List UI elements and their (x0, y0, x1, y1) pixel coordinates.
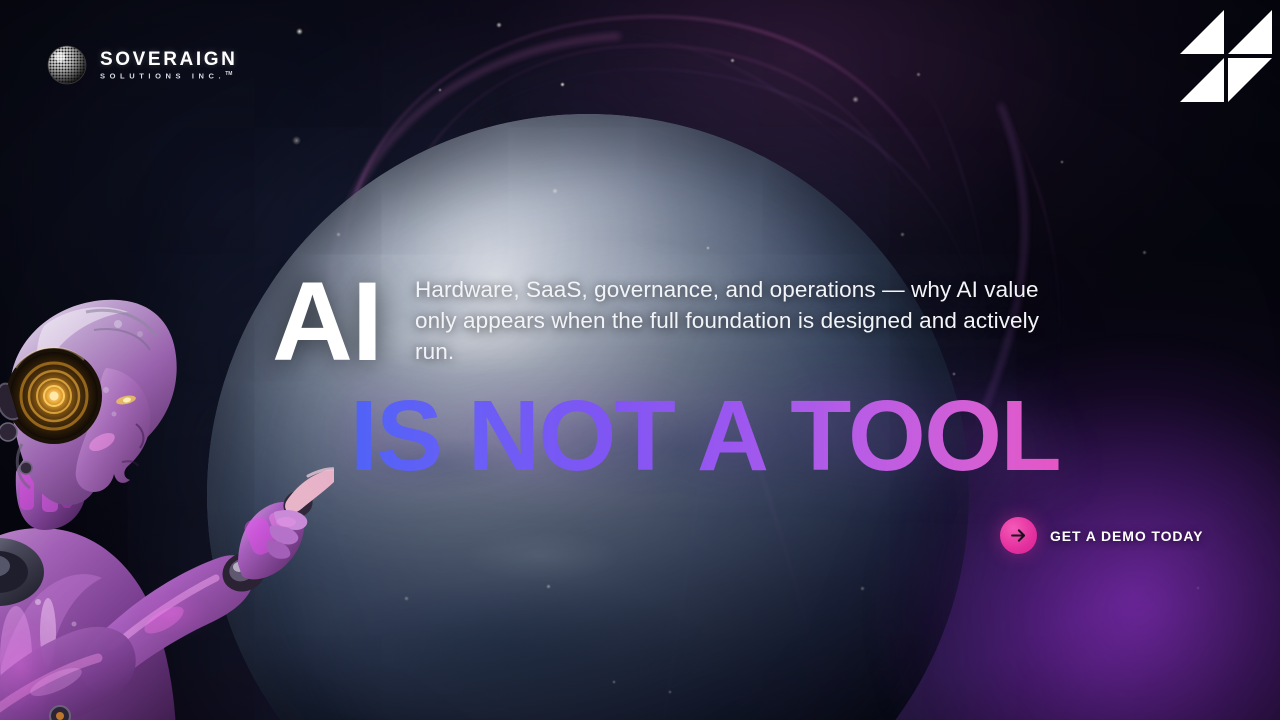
halftone-sphere-icon (46, 44, 88, 86)
cta-label: GET A DEMO TODAY (1050, 528, 1203, 544)
brand-logo[interactable]: SOVERAIGN SOLUTIONS INC.TM (46, 44, 237, 86)
arrow-right-circle-icon (1000, 517, 1037, 554)
get-a-demo-cta[interactable]: GET A DEMO TODAY (1000, 517, 1203, 554)
logo-company-name: SOVERAIGN (100, 50, 237, 69)
pinwheel-triangles-mark-icon[interactable] (1178, 8, 1274, 104)
hero-banner: SOVERAIGN SOLUTIONS INC.TM AI Hardware, … (0, 0, 1280, 720)
logo-wordmark: SOVERAIGN SOLUTIONS INC.TM (100, 50, 237, 80)
logo-tagline: SOLUTIONS INC.TM (100, 72, 237, 80)
hero-headline: IS NOT A TOOL (350, 386, 1220, 486)
hero-subcopy: Hardware, SaaS, governance, and operatio… (415, 274, 1075, 367)
trademark-symbol: TM (225, 71, 232, 77)
eyebrow-ai-word: AI (272, 266, 382, 378)
